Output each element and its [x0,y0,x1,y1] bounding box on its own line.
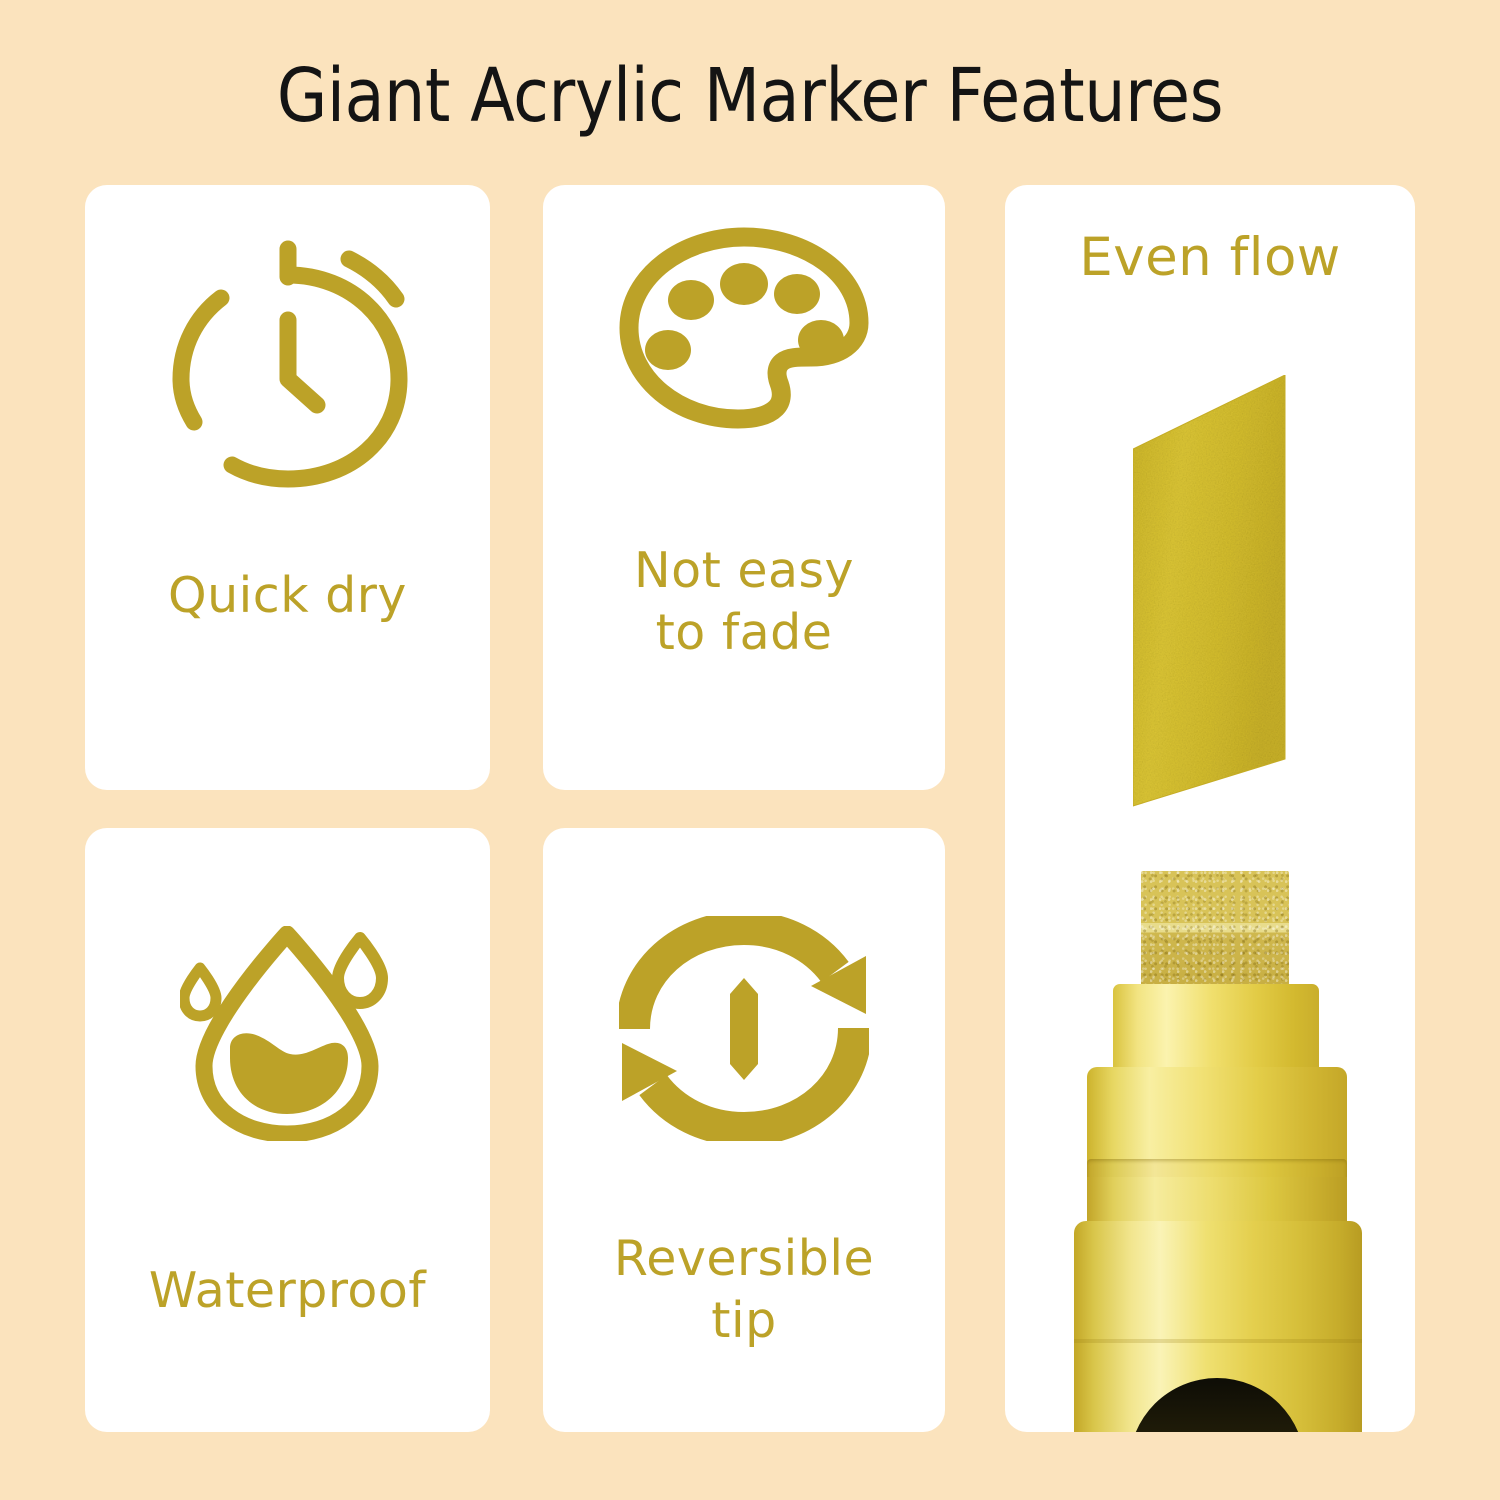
feature-label-line-2: to fade [543,602,945,664]
feature-label-waterproof: Waterproof [85,1260,490,1322]
feature-card-quick-dry[interactable]: Quick dry [85,185,490,790]
gold-acrylic-marker-image [1005,871,1415,1432]
rotate-arrows-icon-container [543,916,945,1141]
water-drop-icon [180,926,395,1141]
feature-label-reversible-tip: Reversible tip [543,1228,945,1352]
marker-tip-holder [1113,984,1319,1076]
paint-palette-icon-container [543,227,945,442]
paint-palette-icon [613,227,875,442]
marker-stroke-swatch [1133,375,1289,810]
stopwatch-icon-container [85,233,490,493]
feature-label-line-1: Reversible [543,1228,945,1290]
product-showcase-panel[interactable]: Even flow [1005,185,1415,1432]
nib-texture [1141,871,1289,989]
marker-barrel-seam [1074,1339,1362,1343]
feature-card-reversible-tip[interactable]: Reversible tip [543,828,945,1432]
marker-chisel-nib [1141,871,1289,989]
even-flow-label: Even flow [1005,227,1415,289]
feature-label-not-easy-to-fade: Not easy to fade [543,540,945,664]
feature-label-line-2: tip [543,1290,945,1352]
feature-label-line-1: Not easy [543,540,945,602]
feature-label-quick-dry: Quick dry [85,565,490,627]
rotate-arrows-icon [619,916,869,1141]
stopwatch-icon [163,233,413,493]
marker-collar [1087,1067,1347,1167]
feature-card-not-easy-to-fade[interactable]: Not easy to fade [543,185,945,790]
page-title: Giant Acrylic Marker Features [90,56,1410,136]
water-drop-icon-container [85,926,490,1141]
feature-card-waterproof[interactable]: Waterproof [85,828,490,1432]
